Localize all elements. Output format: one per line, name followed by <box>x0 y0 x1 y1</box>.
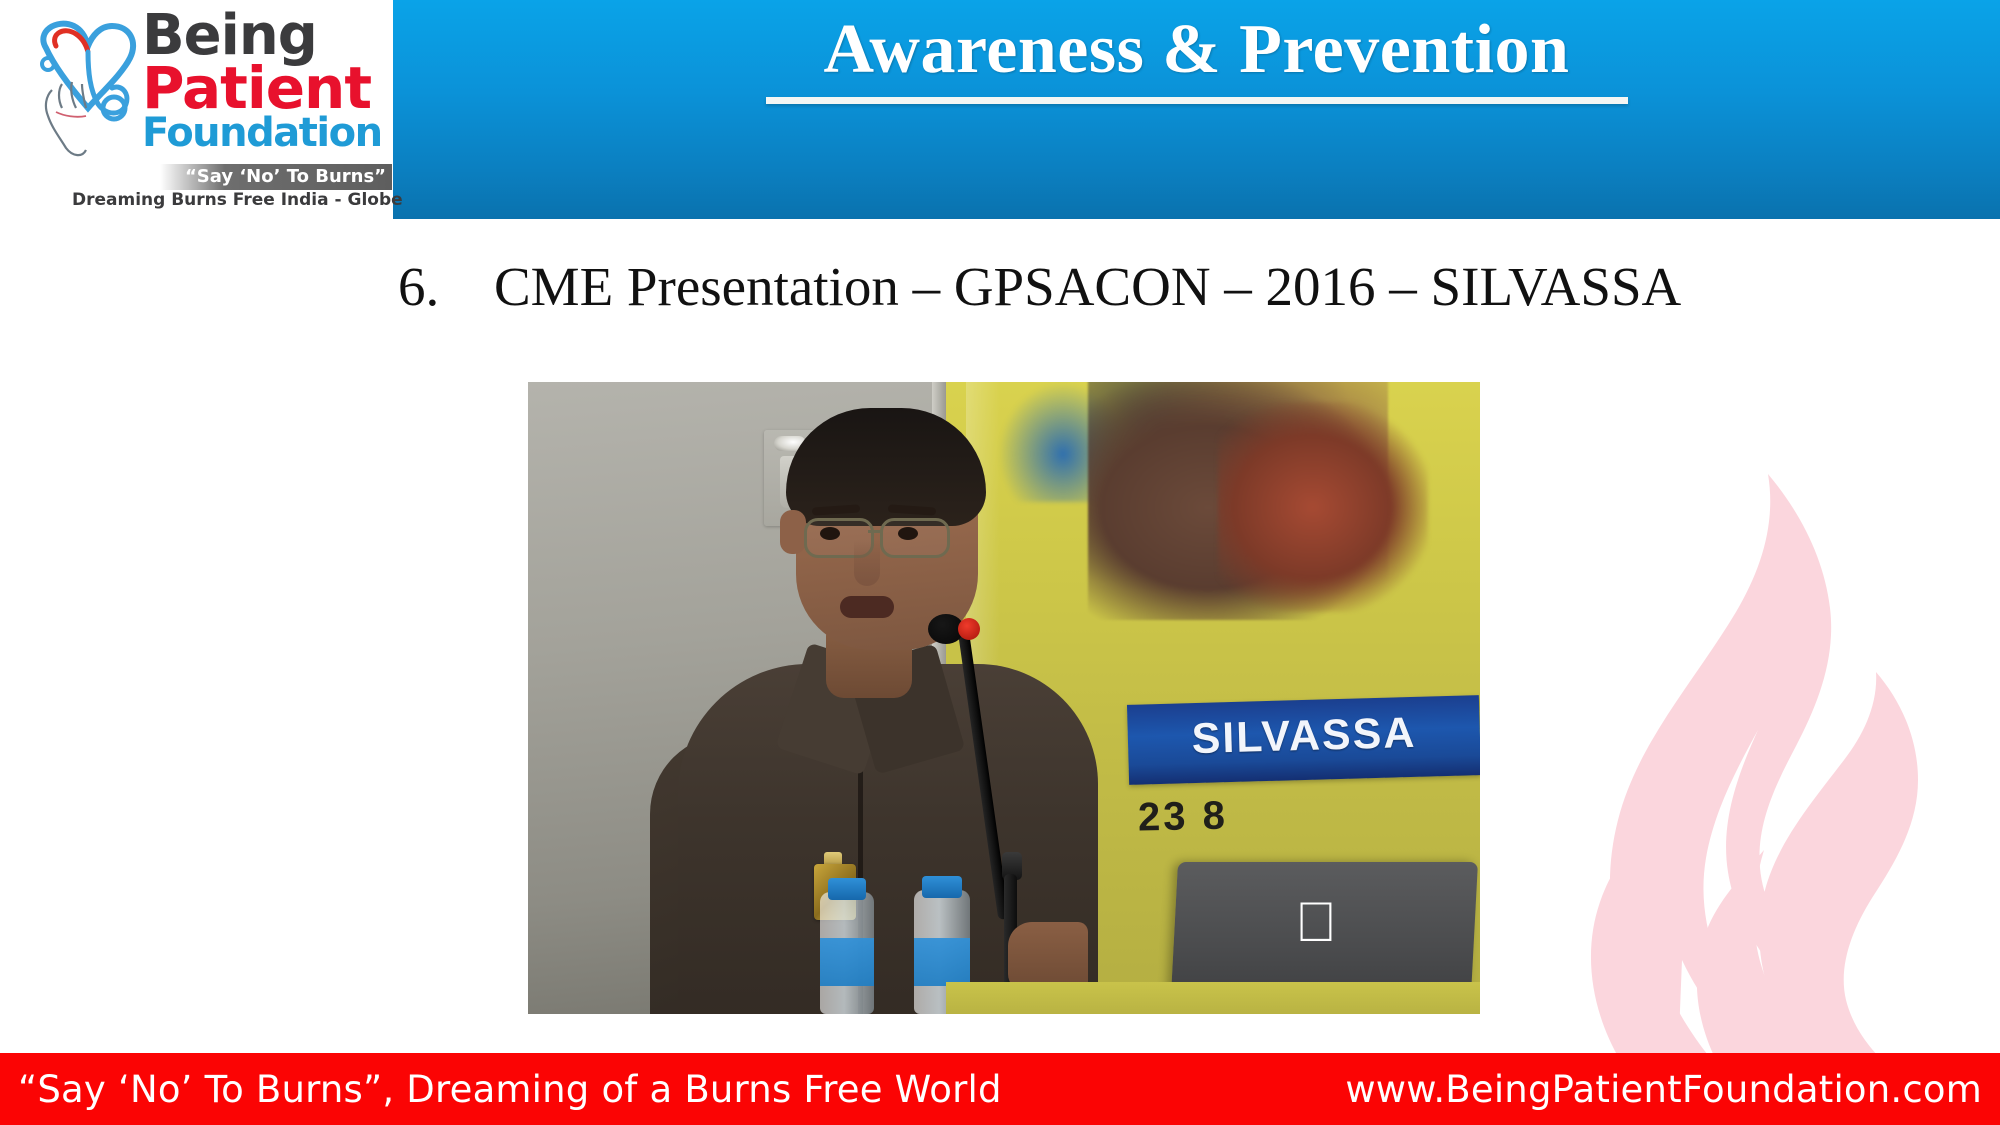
list-item-number: 6. <box>398 255 494 318</box>
logo-word-patient: Patient <box>142 62 392 115</box>
footer-website[interactable]: www.BeingPatientFoundation.com <box>1345 1068 1982 1111</box>
photo-banner-artwork-burn <box>1218 402 1428 612</box>
apple-logo-icon:  <box>1290 894 1342 952</box>
logo-wordmark: Being Patient Foundation <box>142 10 392 152</box>
footer-bar: “Say ‘No’ To Burns”, Dreaming of a Burns… <box>0 1053 2000 1125</box>
title-underline <box>766 97 1628 104</box>
photo-bottle-one-label <box>820 938 874 986</box>
photo-bottle-two-label <box>914 938 970 986</box>
photo-speaker-nose <box>854 540 880 586</box>
footer-slogan: “Say ‘No’ To Burns”, Dreaming of a Burns… <box>18 1068 1002 1111</box>
photo-banner-city-text: SILVASSA <box>1127 707 1480 766</box>
brand-logo: Being Patient Foundation “Say ‘No’ To Bu… <box>12 4 393 219</box>
list-item-text: CME Presentation – GPSACON – 2016 – SILV… <box>494 256 1681 317</box>
photo-podium-top <box>946 982 1480 1014</box>
heart-stethoscope-icon <box>26 12 156 162</box>
photo-speaker-mouth <box>840 596 894 618</box>
page-title: Awareness & Prevention <box>824 14 1570 85</box>
flame-icon <box>1500 300 2000 1060</box>
logo-tagline-sub: Dreaming Burns Free India - Globe <box>72 190 392 210</box>
header-title-container: Awareness & Prevention <box>393 0 2000 219</box>
photo-microphone-windscreen <box>958 618 980 640</box>
content-list-item: 6.CME Presentation – GPSACON – 2016 – SI… <box>398 255 1898 318</box>
photo-bottle-one-cap <box>828 878 866 900</box>
presentation-slide: Awareness & Prevention Being Patient Fou… <box>0 0 2000 1125</box>
photo-speaker-ear <box>780 510 806 554</box>
logo-word-foundation: Foundation <box>142 115 392 152</box>
photo-speaker-eye-left <box>820 527 840 540</box>
logo-tagline-badge: “Say ‘No’ To Burns” <box>160 164 392 190</box>
photo-banner-date-text: 23 8 <box>1138 789 1469 841</box>
slide-photo: SILVASSA 23 8  <box>528 382 1480 1014</box>
photo-speaker-glasses-bridge <box>868 530 882 533</box>
photo-bottle-two-cap <box>922 876 962 898</box>
photo-speaker-eye-right <box>898 527 918 540</box>
